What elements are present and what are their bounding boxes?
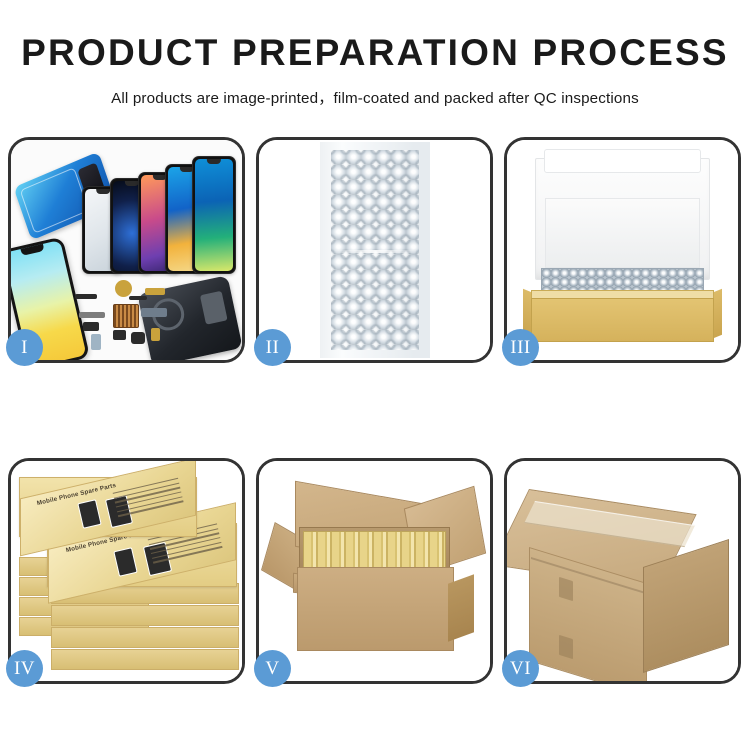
step-badge-3: III bbox=[502, 329, 539, 366]
foam-insert-icon bbox=[545, 198, 700, 268]
bubble-wrap-pouch-icon bbox=[320, 142, 430, 358]
process-step-6[interactable]: VI bbox=[504, 458, 741, 684]
step-badge-2: II bbox=[254, 329, 291, 366]
step-1-image bbox=[11, 140, 242, 360]
step-3-image bbox=[507, 140, 738, 360]
inner-box-illustration bbox=[507, 140, 738, 360]
part-bracket-icon bbox=[79, 312, 105, 318]
process-step-2[interactable]: II bbox=[256, 137, 493, 363]
box-front-panel bbox=[531, 298, 714, 342]
retail-box-1: Mobile Phone Spare Parts bbox=[19, 477, 197, 537]
stack-edge-r3 bbox=[51, 627, 239, 648]
pouch-seam bbox=[334, 250, 416, 253]
stack-edge-r2 bbox=[51, 605, 239, 626]
stacked-boxes-illustration: Mobile Phone Spare Parts Mobile Phone Sp… bbox=[11, 461, 242, 681]
bubble-wrap-illustration bbox=[259, 140, 490, 360]
part-connector-icon bbox=[83, 322, 99, 331]
part-chip-grid-icon bbox=[113, 304, 139, 328]
step-badge-6: VI bbox=[502, 650, 539, 687]
sealed-carton-illustration bbox=[507, 461, 738, 681]
process-step-3[interactable]: III bbox=[504, 137, 741, 363]
process-step-1[interactable]: I bbox=[8, 137, 245, 363]
part-camera-flex-icon bbox=[141, 308, 167, 317]
process-grid: I II bbox=[8, 137, 742, 721]
step-6-image bbox=[507, 461, 738, 681]
part-sim-tray-icon bbox=[91, 334, 101, 350]
poster-root: PRODUCT PREPARATION PROCESS All products… bbox=[0, 0, 750, 750]
retail-box-stack: Mobile Phone Spare Parts Mobile Phone Sp… bbox=[15, 471, 238, 675]
phones-and-parts-illustration bbox=[11, 140, 242, 360]
part-ribbon-icon bbox=[129, 296, 147, 300]
stack-edge-r4 bbox=[51, 649, 239, 670]
carton-tab-lower bbox=[559, 635, 573, 659]
phone-lineup bbox=[86, 154, 236, 274]
phone-icon-5 bbox=[192, 156, 236, 274]
page-title: PRODUCT PREPARATION PROCESS bbox=[0, 34, 750, 73]
carton-tab-upper bbox=[559, 577, 573, 601]
part-vibrator-icon bbox=[131, 332, 145, 344]
process-step-5[interactable]: V bbox=[256, 458, 493, 684]
step-4-image: Mobile Phone Spare Parts Mobile Phone Sp… bbox=[11, 461, 242, 681]
process-step-4[interactable]: Mobile Phone Spare Parts Mobile Phone Sp… bbox=[8, 458, 245, 684]
part-flex-cable-icon bbox=[145, 288, 165, 295]
step-badge-5: V bbox=[254, 650, 291, 687]
part-speaker-icon bbox=[115, 280, 132, 297]
carton-body bbox=[297, 567, 454, 651]
step-badge-4: IV bbox=[6, 650, 43, 687]
step-badge-1: I bbox=[6, 329, 43, 366]
step-2-image bbox=[259, 140, 490, 360]
part-antenna-icon bbox=[75, 294, 97, 299]
header: PRODUCT PREPARATION PROCESS All products… bbox=[0, 0, 750, 108]
open-carton-illustration bbox=[259, 461, 490, 681]
page-subtitle: All products are image-printed，film-coat… bbox=[0, 86, 750, 108]
part-screw-post-icon bbox=[151, 328, 160, 341]
spare-parts-cluster bbox=[73, 274, 179, 356]
part-button-icon bbox=[113, 330, 126, 340]
carton-body-side bbox=[448, 574, 474, 641]
step-5-image bbox=[259, 461, 490, 681]
